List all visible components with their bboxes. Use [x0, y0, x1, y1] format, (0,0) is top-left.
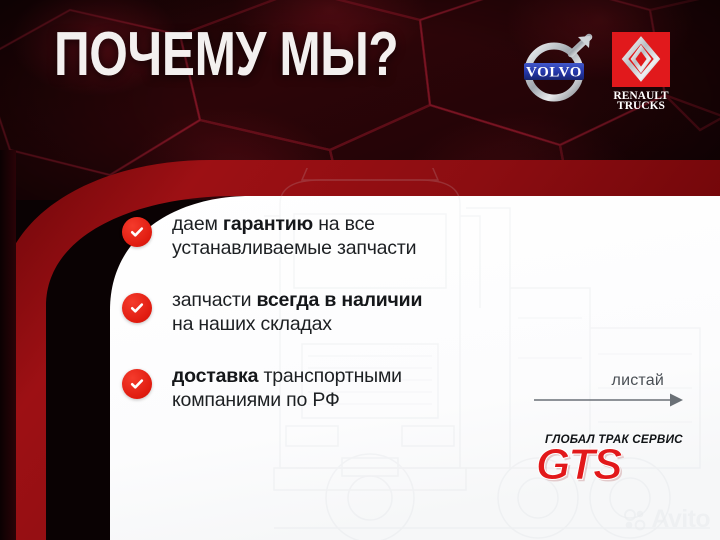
- benefit-bold: доставка: [172, 365, 258, 387]
- benefit-pre: даем: [172, 213, 223, 235]
- list-item: даем гарантию на все устанавливаемые зап…: [122, 212, 552, 260]
- list-item: запчасти всегда в наличии на наших склад…: [122, 288, 552, 336]
- gts-wordmark: GTS: [536, 443, 620, 487]
- benefit-post: на все: [313, 213, 375, 235]
- avito-watermark: Avito: [624, 505, 710, 534]
- avito-dots-icon: [624, 509, 646, 531]
- gts-logo: ГЛОБАЛ ТРАК СЕРВИС GTS: [536, 432, 688, 494]
- benefit-bold: гарантию: [223, 213, 313, 235]
- list-item: доставка транспортными компаниями по РФ: [122, 364, 552, 412]
- swipe-label: листай: [612, 372, 664, 390]
- promo-banner: ПОЧЕМУ МЫ?: [0, 0, 720, 540]
- benefit-line2: компаниями по РФ: [172, 389, 340, 411]
- benefit-post: транспортными: [258, 365, 402, 387]
- benefit-bold: всегда в наличии: [257, 289, 423, 311]
- benefits-list: даем гарантию на все устанавливаемые зап…: [122, 212, 552, 440]
- benefit-line2: устанавливаемые запчасти: [172, 237, 416, 259]
- avito-wordmark: Avito: [651, 505, 710, 534]
- benefit-text: запчасти всегда в наличии на наших склад…: [172, 288, 422, 336]
- check-circle-icon: [122, 293, 152, 323]
- benefit-text: даем гарантию на все устанавливаемые зап…: [172, 212, 416, 260]
- benefit-pre: запчасти: [172, 289, 257, 311]
- benefit-text: доставка транспортными компаниями по РФ: [172, 364, 402, 412]
- check-circle-icon: [122, 217, 152, 247]
- swipe-hint: листай: [534, 374, 684, 408]
- check-circle-icon: [122, 369, 152, 399]
- benefit-line2: на наших складах: [172, 313, 332, 335]
